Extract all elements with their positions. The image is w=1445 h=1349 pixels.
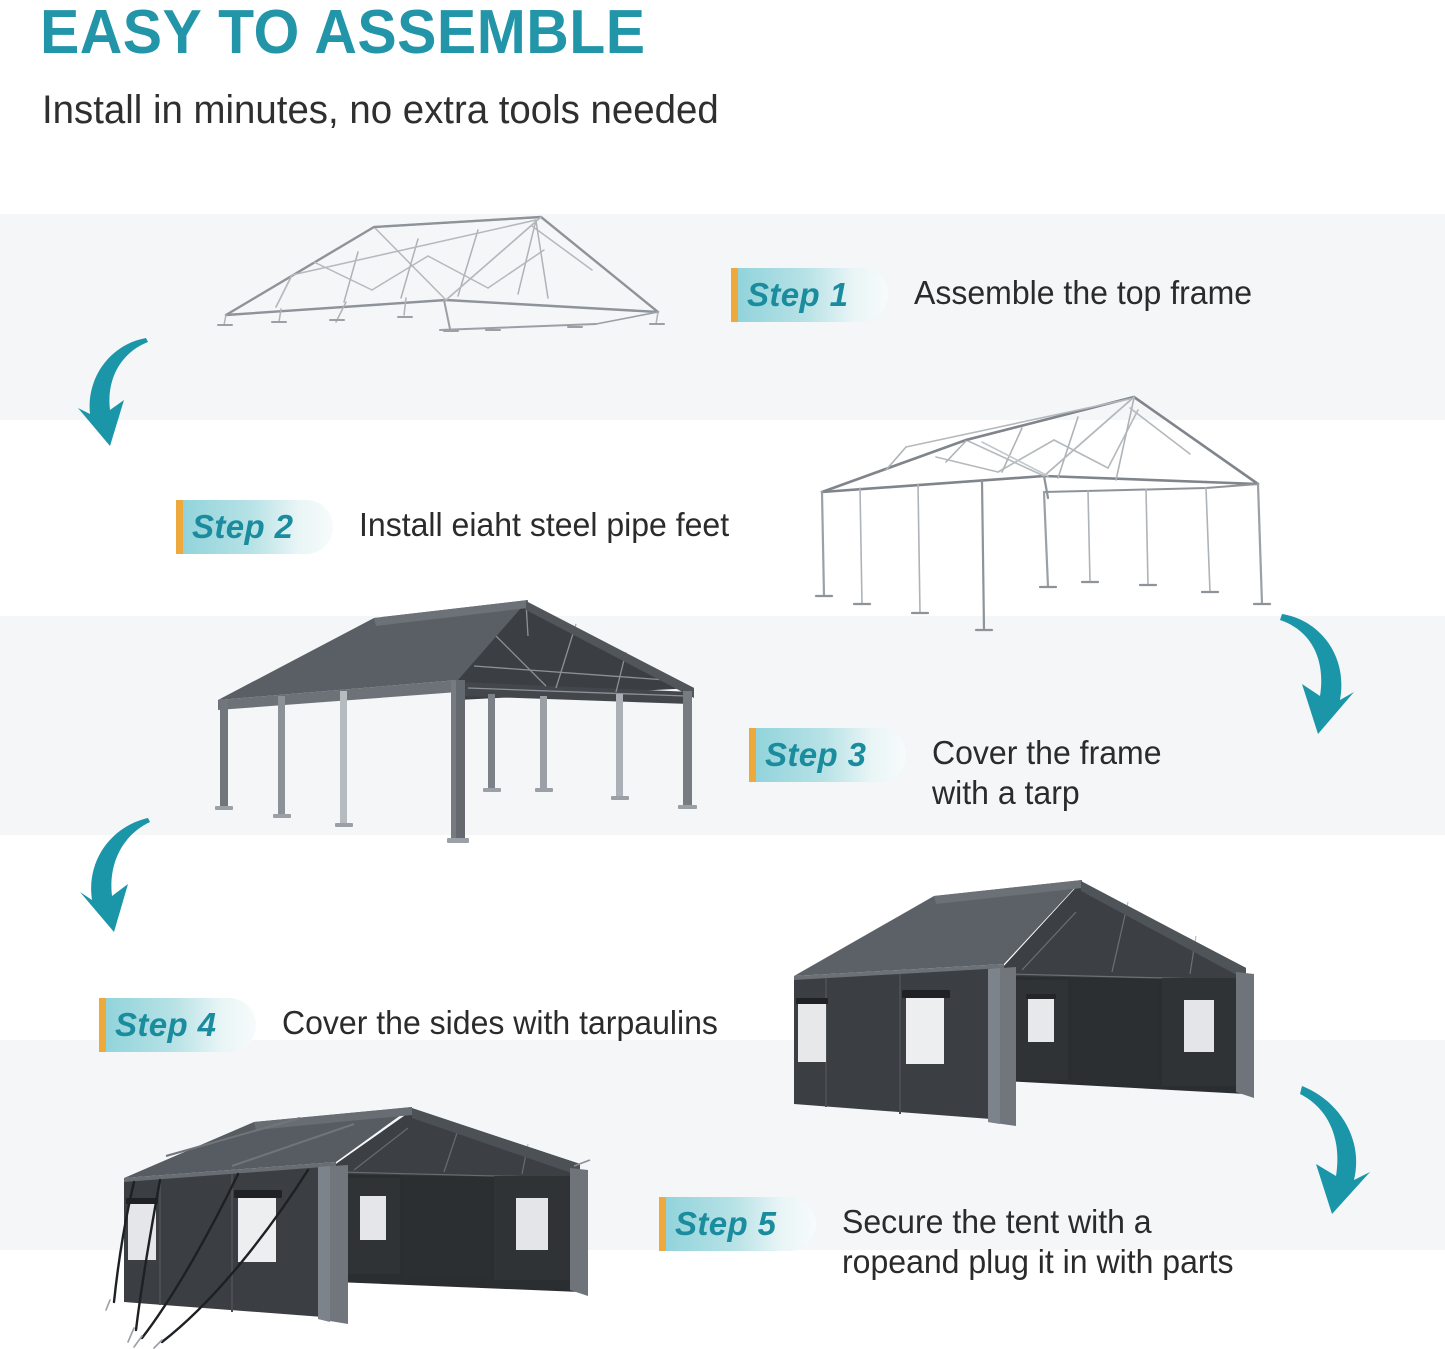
step-description-1: Assemble the top frame: [914, 273, 1252, 313]
step-badge-label: Step 4: [115, 1006, 216, 1044]
illustration-carport-enclosed: [776, 876, 1256, 1131]
step-row-1: Step 1 Assemble the top frame: [731, 268, 1263, 322]
arrow-step1-to-step2: [72, 332, 172, 452]
step-row-4: Step 4 Cover the sides with tarpaulins: [99, 998, 732, 1052]
arrow-step2-to-step3: [1262, 608, 1367, 738]
page-title: EASY TO ASSEMBLE: [40, 0, 645, 67]
illustration-carport-guy-ropes: [104, 1104, 594, 1349]
step-row-2: Step 2 Install eiaht steel pipe feet: [176, 500, 741, 554]
header: EASY TO ASSEMBLE Install in minutes, no …: [0, 0, 1445, 200]
step-badge-4: Step 4: [99, 998, 256, 1052]
step-badge-label: Step 5: [675, 1205, 776, 1243]
step-badge-3: Step 3: [749, 728, 906, 782]
illustration-full-frame-wireframe: [786, 392, 1286, 637]
step-row-3: Step 3 Cover the frame with a tarp: [749, 728, 1169, 814]
step-row-5: Step 5 Secure the tent with a ropeand pl…: [659, 1197, 1246, 1283]
step-description-3: Cover the frame with a tarp: [932, 733, 1161, 814]
step-badge-label: Step 3: [765, 736, 866, 774]
step-description-5: Secure the tent with a ropeand plug it i…: [842, 1202, 1233, 1283]
step-description-2: Install eiaht steel pipe feet: [359, 505, 729, 545]
step-badge-label: Step 1: [747, 276, 848, 314]
infographic-page: EASY TO ASSEMBLE Install in minutes, no …: [0, 0, 1445, 1349]
step-badge-1: Step 1: [731, 268, 888, 322]
page-subtitle: Install in minutes, no extra tools neede…: [42, 86, 719, 134]
step-badge-label: Step 2: [192, 508, 293, 546]
illustration-carport-roof-tarp: [196, 596, 701, 846]
illustration-roof-truss-wireframe: [196, 212, 686, 347]
step-badge-5: Step 5: [659, 1197, 816, 1251]
step-description-4: Cover the sides with tarpaulins: [282, 1003, 718, 1043]
arrow-step3-to-step4: [78, 812, 178, 937]
arrow-step4-to-step5: [1278, 1086, 1383, 1216]
step-badge-2: Step 2: [176, 500, 333, 554]
